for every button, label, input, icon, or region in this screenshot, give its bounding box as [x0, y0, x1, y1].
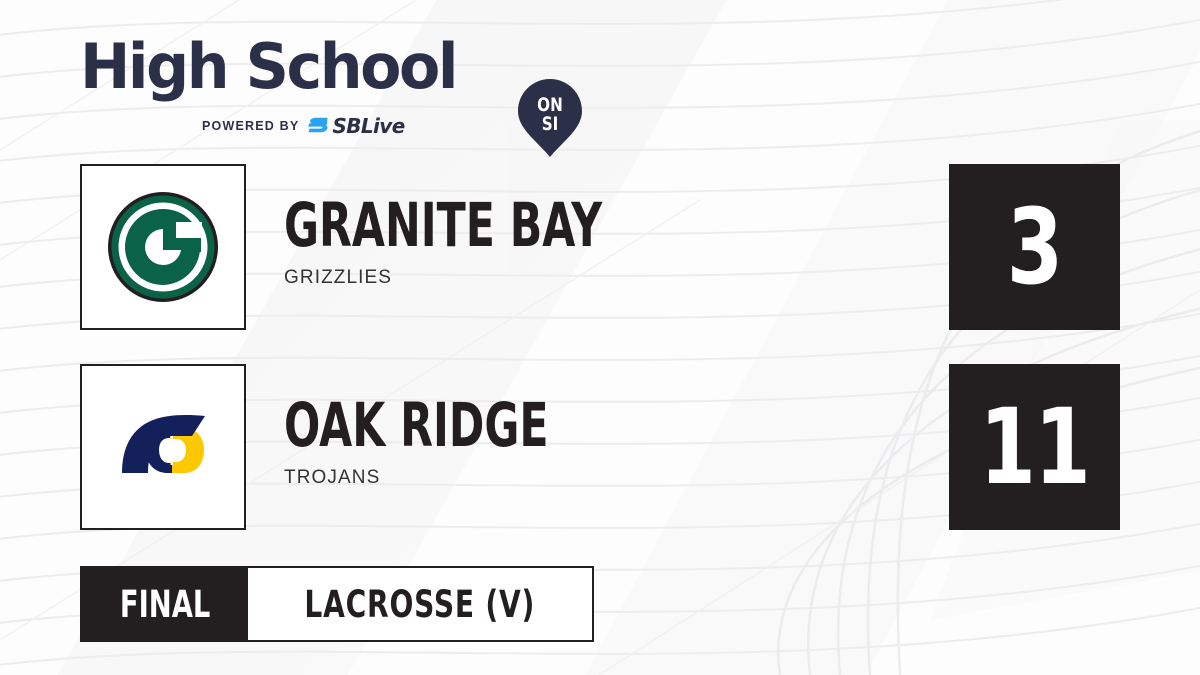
team-score-box: 11	[949, 364, 1120, 530]
powered-by-lockup: POWERED BY SBLive	[202, 116, 405, 136]
team-score: 3	[1007, 195, 1062, 299]
sblive-logo: SBLive	[308, 116, 404, 136]
team-logo-card	[80, 364, 246, 530]
team-mascot: TROJANS	[284, 467, 904, 489]
team-name: GRANITE BAY	[284, 198, 718, 254]
sblive-s-mark-icon	[308, 117, 329, 136]
team-name: OAK RIDGE	[284, 398, 718, 454]
team-identity: OAK RIDGE TROJANS	[284, 398, 904, 489]
sblive-wordmark: SBLive	[332, 116, 404, 136]
sport-label-box: LACROSSE (V)	[248, 568, 592, 640]
powered-by-label: POWERED BY	[202, 120, 299, 133]
team-row: OAK RIDGE TROJANS 11	[0, 364, 1200, 534]
brand-lockup: High School ON SI POWERED BY SBLive	[80, 36, 510, 136]
map-pin-icon: ON SI	[517, 79, 583, 157]
team-mascot: GRIZZLIES	[284, 267, 904, 289]
team-identity: GRANITE BAY GRIZZLIES	[284, 198, 904, 289]
team-score: 11	[980, 395, 1090, 499]
sport-label: LACROSSE (V)	[305, 583, 536, 626]
svg-text:SI: SI	[542, 113, 559, 135]
team-score-box: 3	[949, 164, 1120, 330]
game-status-bar: FINAL LACROSSE (V)	[80, 566, 594, 642]
scoreboard-graphic: High School ON SI POWERED BY SBLive	[0, 0, 1200, 675]
oak-ridge-trojans-logo	[108, 392, 218, 502]
status-badge: FINAL	[82, 568, 248, 640]
team-logo-card	[80, 164, 246, 330]
brand-wordmark: High School	[80, 36, 456, 98]
team-row: GRANITE BAY GRIZZLIES 3	[0, 164, 1200, 334]
granite-bay-grizzlies-logo	[108, 192, 218, 302]
status-state-label: FINAL	[120, 583, 210, 626]
